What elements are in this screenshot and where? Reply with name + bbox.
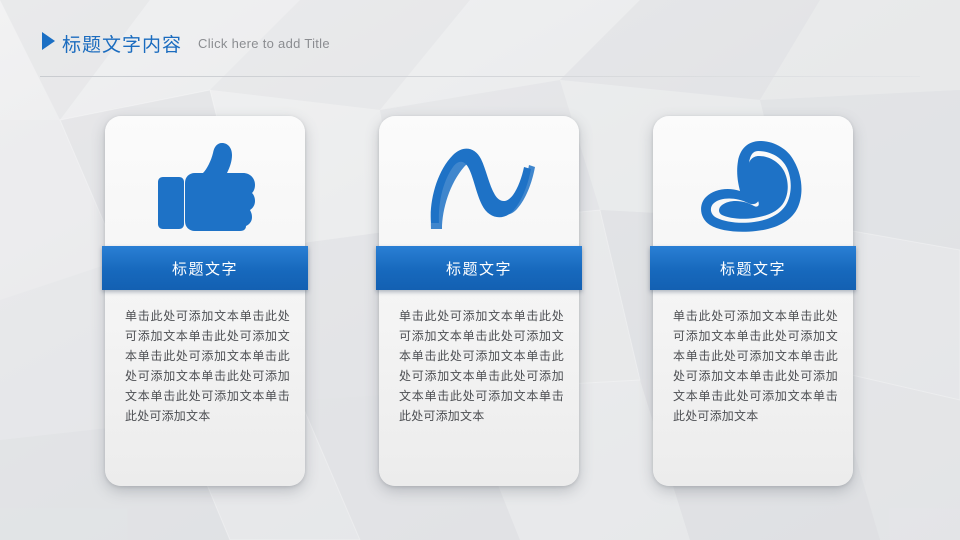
card-body-text: 单击此处可添加文本单击此处可添加文本单击此处可添加文本单击此处可添加文本单击此处…	[673, 306, 838, 426]
card-icon-area	[105, 128, 305, 246]
card-icon-area	[379, 128, 579, 246]
content-card[interactable]: 标题文字 单击此处可添加文本单击此处可添加文本单击此处可添加文本单击此处可添加文…	[653, 116, 853, 486]
card-icon-area	[653, 128, 853, 246]
content-card[interactable]: 标题文字 单击此处可添加文本单击此处可添加文本单击此处可添加文本单击此处可添加文…	[105, 116, 305, 486]
card-body-text: 单击此处可添加文本单击此处可添加文本单击此处可添加文本单击此处可添加文本单击此处…	[125, 306, 290, 426]
card-title-band: 标题文字	[650, 246, 856, 290]
ribbon-wave-icon	[423, 141, 535, 233]
card-title-label: 标题文字	[720, 258, 786, 279]
card-title-band: 标题文字	[376, 246, 582, 290]
card-title-label: 标题文字	[172, 258, 238, 279]
content-card[interactable]: 标题文字 单击此处可添加文本单击此处可添加文本单击此处可添加文本单击此处可添加文…	[379, 116, 579, 486]
slide-canvas: 标题文字内容 Click here to add Title 标题文字 单击此处…	[0, 0, 960, 540]
flexed-biceps-icon	[698, 137, 808, 237]
card-title-band: 标题文字	[102, 246, 308, 290]
thumbs-up-icon	[153, 139, 257, 235]
card-group: 标题文字 单击此处可添加文本单击此处可添加文本单击此处可添加文本单击此处可添加文…	[0, 0, 960, 540]
card-title-label: 标题文字	[446, 258, 512, 279]
card-body-text: 单击此处可添加文本单击此处可添加文本单击此处可添加文本单击此处可添加文本单击此处…	[399, 306, 564, 426]
